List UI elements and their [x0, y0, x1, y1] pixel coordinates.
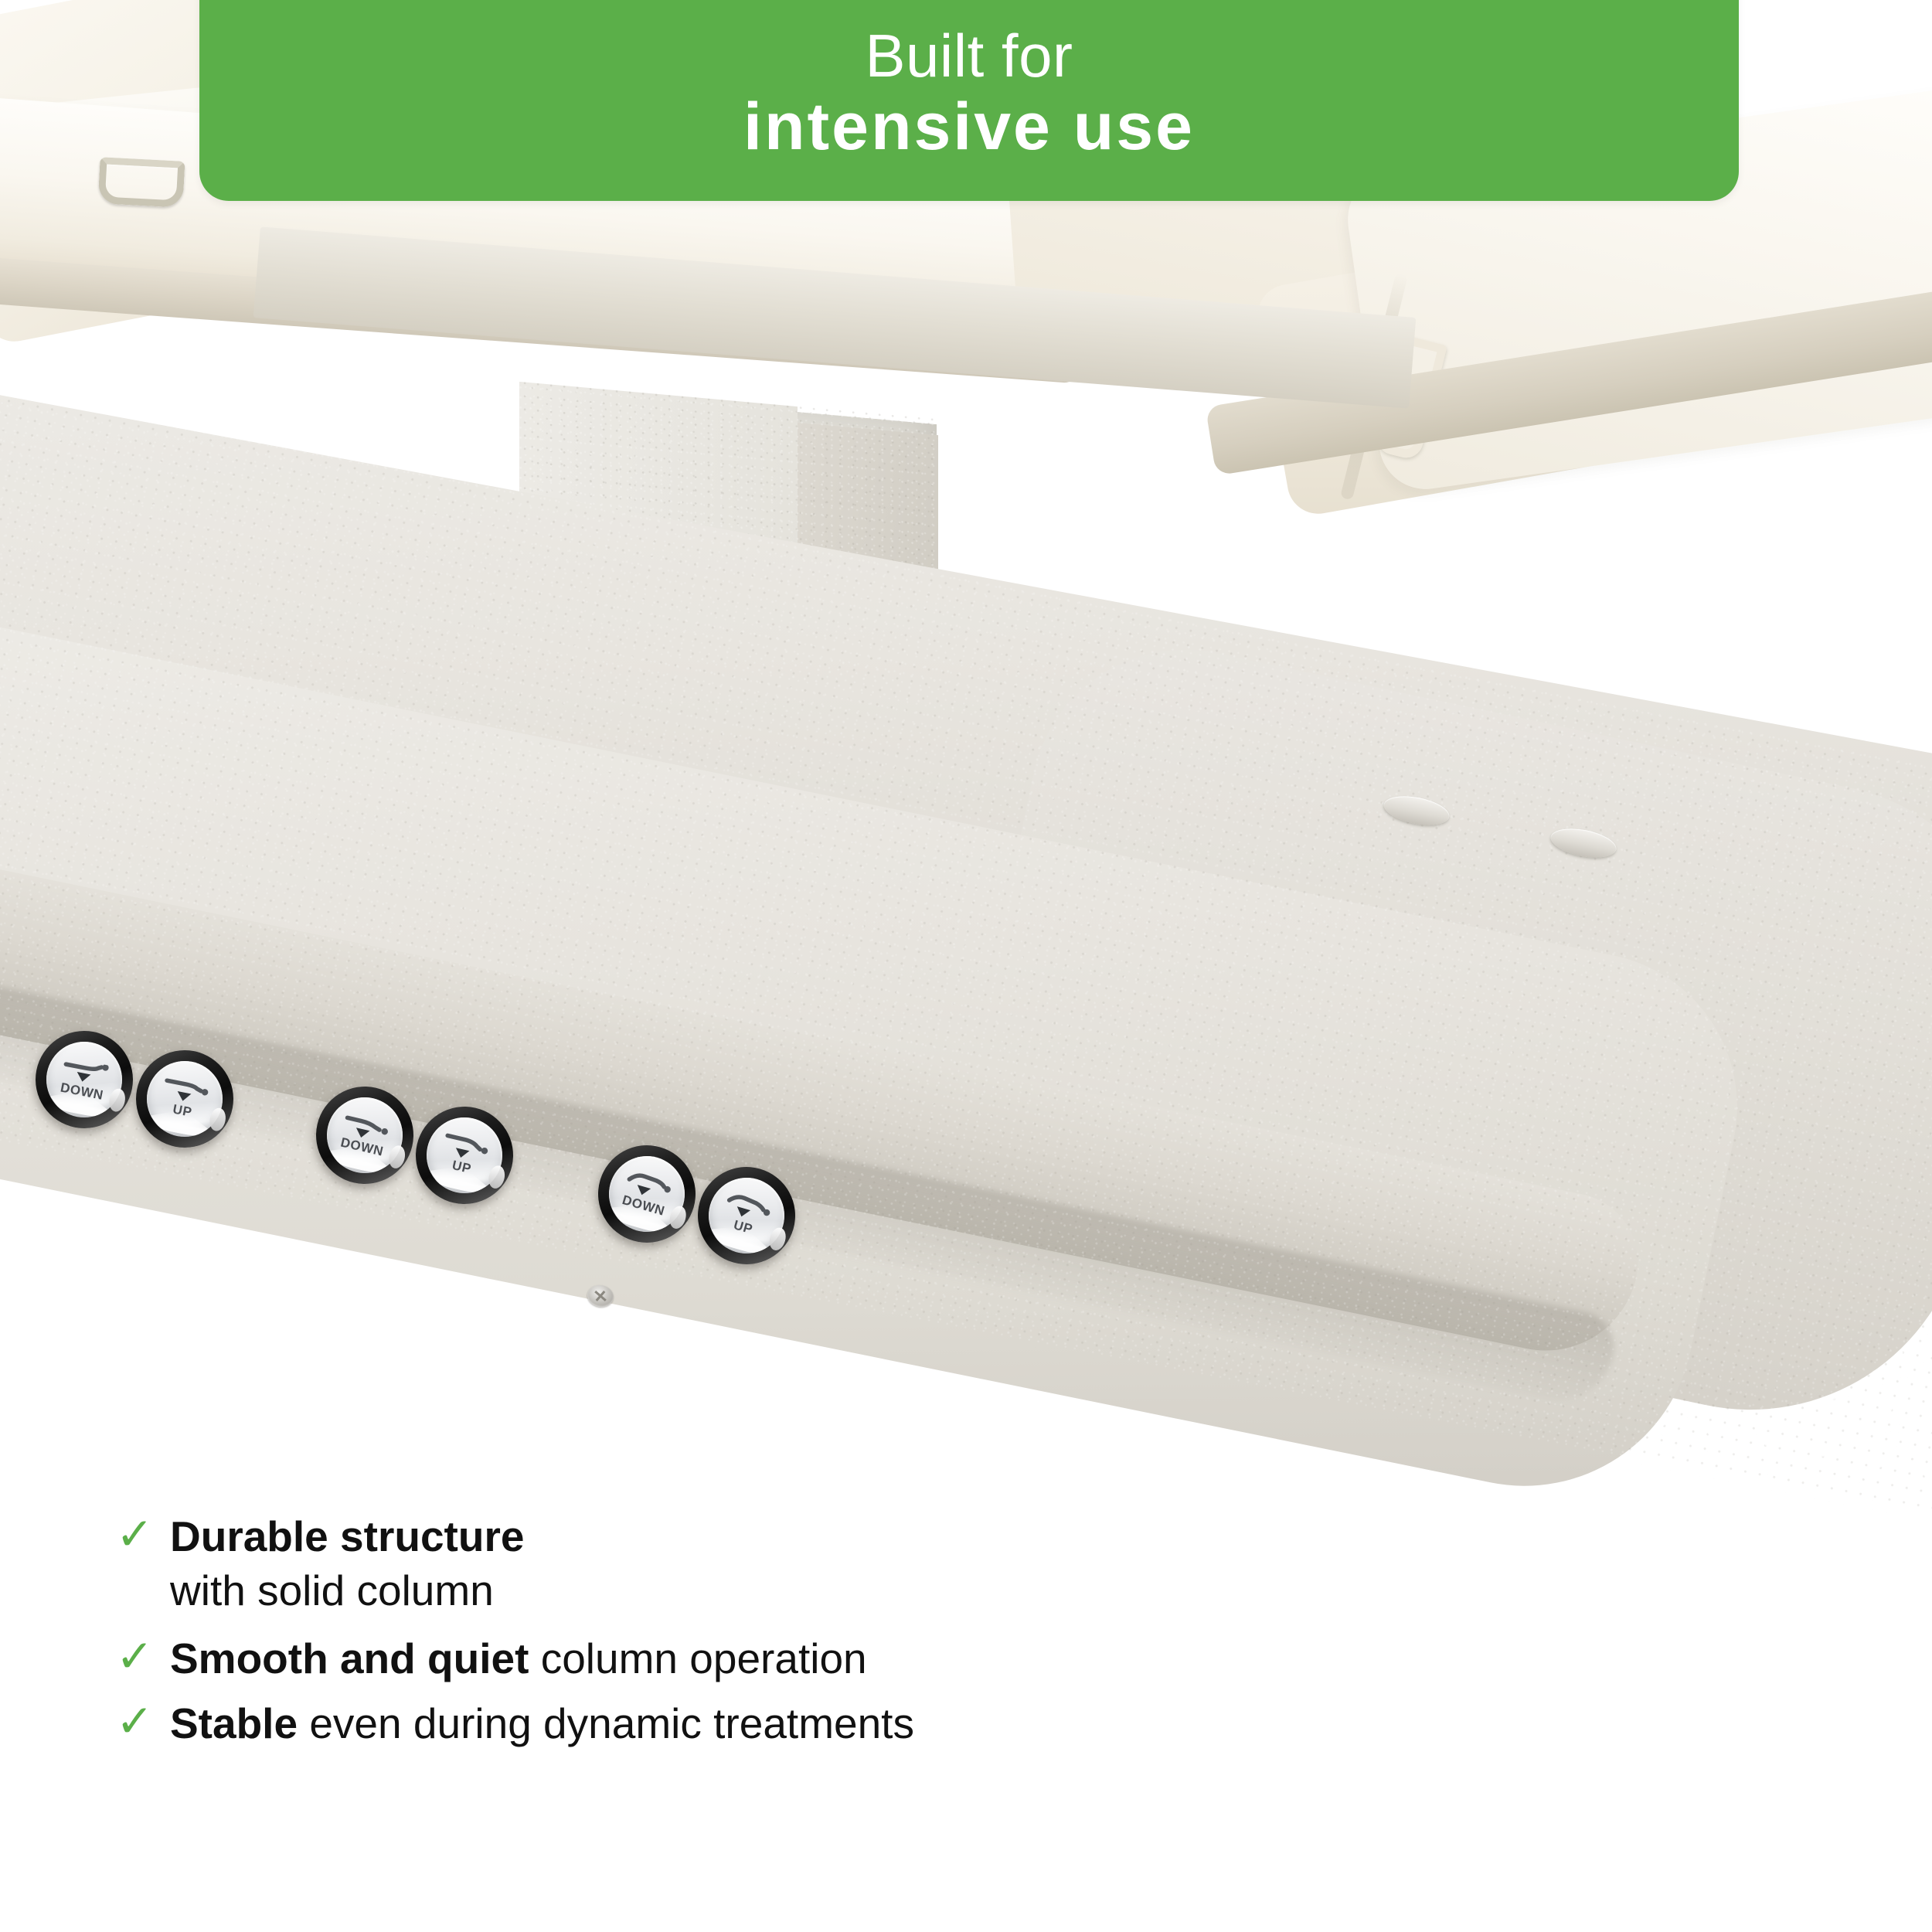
table-handle-icon [98, 157, 185, 208]
headline-banner: Built for intensive use [199, 0, 1739, 201]
product-photo: DOWN UP [0, 0, 1932, 1515]
check-icon: ✓ [116, 1511, 170, 1558]
feature-item-1-subtext: with solid column [170, 1565, 1816, 1616]
feature-item-3-rest: even during dynamic treatments [298, 1699, 914, 1747]
feature-item-2-text: Smooth and quiet column operation [170, 1633, 867, 1684]
feature-item-2-rest: column operation [529, 1634, 866, 1682]
headline-line-2: intensive use [743, 94, 1195, 160]
feature-item-3-text: Stable even during dynamic treatments [170, 1698, 914, 1749]
feature-item-3: ✓ Stable even during dynamic treatments [116, 1698, 1816, 1749]
headline-line-1: Built for [866, 26, 1073, 86]
check-icon: ✓ [116, 1698, 170, 1745]
feature-item-2: ✓ Smooth and quiet column operation [116, 1633, 1816, 1684]
feature-item-1-text: Durable structure [170, 1511, 524, 1562]
check-icon: ✓ [116, 1633, 170, 1680]
feature-item-3-bold: Stable [170, 1699, 298, 1747]
feature-list: ✓ Durable structure with solid column ✓ … [116, 1511, 1816, 1752]
product-marketing-image: DOWN UP [0, 0, 1932, 1932]
feature-item-2-bold: Smooth and quiet [170, 1634, 529, 1682]
feature-item-1: ✓ Durable structure [116, 1511, 1816, 1562]
spacer [116, 1687, 1816, 1698]
feature-item-1-bold: Durable structure [170, 1512, 524, 1560]
